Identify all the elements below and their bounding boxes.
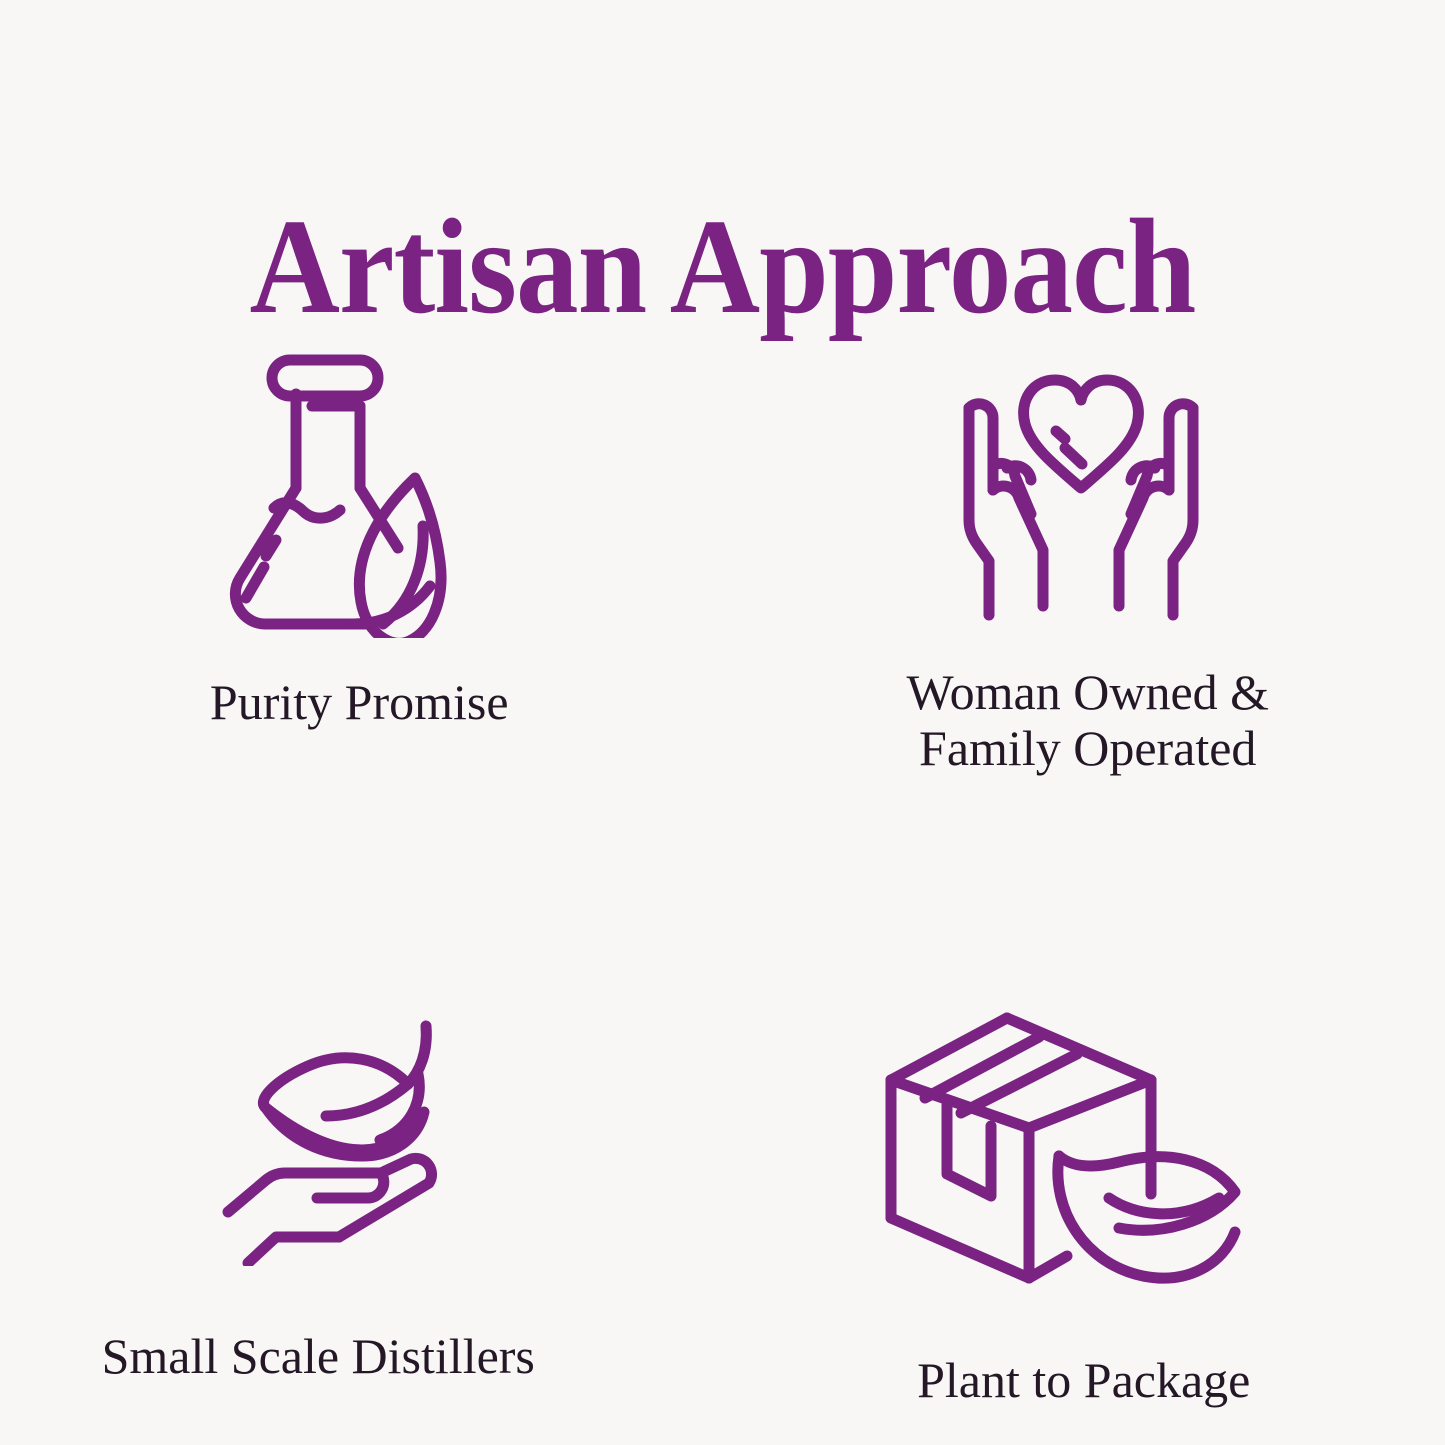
hand-leaf-icon bbox=[214, 1008, 472, 1266]
feature-label-woman-owned: Woman Owned & Family Operated bbox=[906, 664, 1269, 776]
page-title: Artisan Approach bbox=[58, 199, 1387, 335]
feature-item-plant-to-package: Plant to Package bbox=[723, 776, 1445, 1408]
feature-grid: Purity Promise bbox=[0, 330, 1445, 1330]
feature-item-woman-owned: Woman Owned & Family Operated bbox=[723, 330, 1445, 776]
feature-item-small-scale-distillers: Small Scale Distillers bbox=[0, 776, 723, 1408]
artisan-approach-panel: Artisan Approach bbox=[0, 0, 1445, 1445]
feature-label-purity-promise: Purity Promise bbox=[210, 674, 509, 730]
feature-item-purity-promise: Purity Promise bbox=[0, 330, 723, 776]
feature-label-plant-to-package: Plant to Package bbox=[917, 1352, 1250, 1408]
hands-heart-icon bbox=[925, 348, 1237, 628]
box-leaf-icon bbox=[881, 1008, 1281, 1290]
flask-leaf-icon bbox=[212, 348, 474, 638]
feature-label-small-scale-distillers: Small Scale Distillers bbox=[102, 1328, 535, 1384]
